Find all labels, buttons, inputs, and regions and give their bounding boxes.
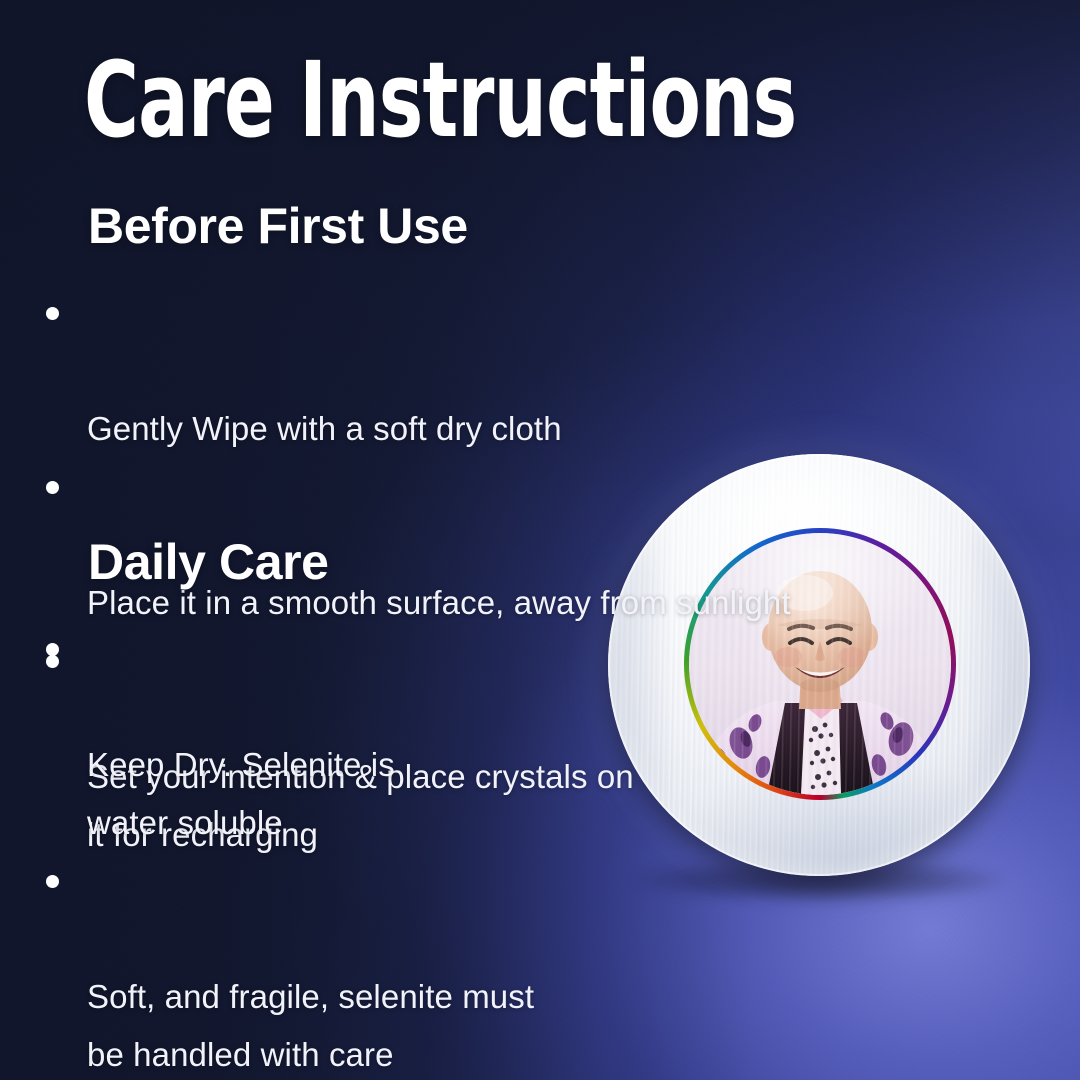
care-instructions-card: Care Instructions Before First Use Gentl… xyxy=(0,0,1080,1080)
section-heading-before-first-use: Before First Use xyxy=(88,200,468,253)
bullet-dot-icon xyxy=(46,307,59,320)
bullet-dot-icon xyxy=(46,875,59,888)
list-item-label: Gently Wipe with a soft dry cloth xyxy=(87,410,562,447)
list-item: Keep Dry. Selenite is water soluble xyxy=(40,620,940,852)
list-item-label: Soft, and fragile, selenite must be hand… xyxy=(87,978,534,1073)
bullet-dot-icon xyxy=(46,481,59,494)
section-heading-daily-care: Daily Care xyxy=(88,536,329,589)
bullet-dot-icon xyxy=(46,643,59,656)
bullet-list-daily-care: Keep Dry. Selenite is water soluble Soft… xyxy=(40,620,940,1080)
instructions-content: Care Instructions Before First Use Gentl… xyxy=(0,0,1080,1080)
list-item-label: Keep Dry. Selenite is water soluble xyxy=(87,746,395,841)
page-title: Care Instructions xyxy=(84,48,796,152)
list-item: Soft, and fragile, selenite must be hand… xyxy=(40,852,940,1080)
list-item: Gently Wipe with a soft dry cloth xyxy=(40,284,940,458)
